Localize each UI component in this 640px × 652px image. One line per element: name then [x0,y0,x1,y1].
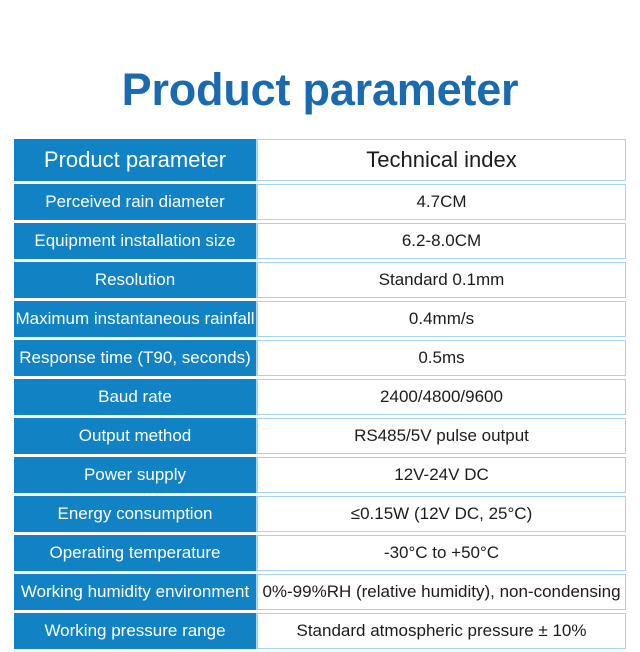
table-body: Product parameter Technical index Percei… [14,139,626,649]
row-label-maximum-instantaneous-rainfall: Maximum instantaneous rainfall [14,301,256,337]
row-value-equipment-installation-size: 6.2-8.0CM [256,223,626,259]
row-value-power-supply: 12V-24V DC [256,457,626,493]
table-row: Equipment installation size 6.2-8.0CM [14,223,626,259]
row-label-output-method: Output method [14,418,256,454]
row-value-resolution: Standard 0.1mm [256,262,626,298]
product-parameter-table: Product parameter Technical index Percei… [14,136,626,652]
row-value-working-humidity-environment: 0%-99%RH (relative humidity), non-conden… [256,574,626,610]
row-label-baud-rate: Baud rate [14,379,256,415]
header-cell-index: Technical index [256,139,626,181]
row-label-power-supply: Power supply [14,457,256,493]
row-value-maximum-instantaneous-rainfall: 0.4mm/s [256,301,626,337]
table-row: Power supply 12V-24V DC [14,457,626,493]
row-value-output-method: RS485/5V pulse output [256,418,626,454]
product-parameter-page: Product parameter Product parameter Tech… [0,0,640,640]
table-header-row: Product parameter Technical index [14,139,626,181]
row-label-working-pressure-range: Working pressure range [14,613,256,649]
table-row: Maximum instantaneous rainfall 0.4mm/s [14,301,626,337]
table-row: Operating temperature -30°C to +50°C [14,535,626,571]
table-row: Resolution Standard 0.1mm [14,262,626,298]
table-row: Perceived rain diameter 4.7CM [14,184,626,220]
page-title: Product parameter [0,62,640,118]
header-cell-parameter: Product parameter [14,139,256,181]
table-row: Energy consumption ≤0.15W (12V DC, 25°C) [14,496,626,532]
row-label-working-humidity-environment: Working humidity environment [14,574,256,610]
table-row: Working humidity environment 0%-99%RH (r… [14,574,626,610]
table-row: Baud rate 2400/4800/9600 [14,379,626,415]
row-label-operating-temperature: Operating temperature [14,535,256,571]
row-value-energy-consumption: ≤0.15W (12V DC, 25°C) [256,496,626,532]
row-value-operating-temperature: -30°C to +50°C [256,535,626,571]
row-value-response-time: 0.5ms [256,340,626,376]
row-label-response-time: Response time (T90, seconds) [14,340,256,376]
table-row: Working pressure range Standard atmosphe… [14,613,626,649]
row-value-perceived-rain-diameter: 4.7CM [256,184,626,220]
row-label-equipment-installation-size: Equipment installation size [14,223,256,259]
row-value-baud-rate: 2400/4800/9600 [256,379,626,415]
row-label-resolution: Resolution [14,262,256,298]
row-label-energy-consumption: Energy consumption [14,496,256,532]
table-row: Response time (T90, seconds) 0.5ms [14,340,626,376]
row-label-perceived-rain-diameter: Perceived rain diameter [14,184,256,220]
row-value-working-pressure-range: Standard atmospheric pressure ± 10% [256,613,626,649]
table-row: Output method RS485/5V pulse output [14,418,626,454]
